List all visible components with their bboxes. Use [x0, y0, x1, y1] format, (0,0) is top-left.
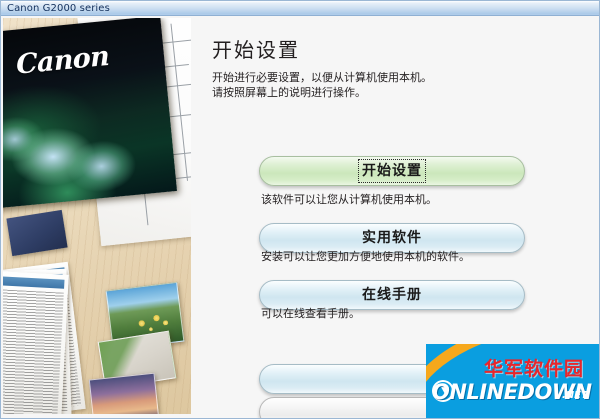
useful-software-button-label: 实用软件	[362, 230, 422, 246]
printed-document-image	[3, 271, 69, 414]
useful-software-note: 安装可以让您更加方便地使用本机的软件。	[261, 250, 470, 264]
watermark-chinese-text: 华军软件园	[484, 358, 584, 380]
start-setup-button[interactable]: 开始设置	[259, 156, 525, 186]
page-description-line-1: 开始进行必要设置，以便从计算机使用本机。	[212, 70, 552, 85]
useful-software-button[interactable]: 实用软件	[259, 223, 525, 253]
page-description: 开始进行必要设置，以便从计算机使用本机。 请按照屏幕上的说明进行操作。	[212, 70, 552, 100]
canon-setup-window: Canon G2000 series Canon	[0, 0, 600, 419]
start-setup-note: 该软件可以让您从计算机使用本机。	[261, 193, 437, 207]
canon-flower-photo: Canon	[3, 18, 177, 208]
start-setup-button-label: 开始设置	[362, 163, 422, 179]
title-bar: Canon G2000 series	[1, 1, 600, 16]
document-text-lines	[3, 289, 64, 414]
window-title: Canon G2000 series	[7, 2, 110, 15]
site-watermark: 华军软件园 ONLINEDOWN .NET	[426, 344, 600, 419]
online-manual-button[interactable]: 在线手册	[259, 280, 525, 310]
watermark-tld-text: .NET	[562, 390, 588, 402]
page-description-line-2: 请按照屏幕上的说明进行操作。	[212, 85, 552, 100]
canon-logo-wordmark: Canon	[16, 43, 110, 79]
product-illustration-panel: Canon	[3, 18, 191, 414]
sunset-photo-print	[89, 373, 159, 414]
online-manual-note: 可以在线查看手册。	[261, 307, 360, 321]
online-manual-button-label: 在线手册	[362, 287, 422, 303]
document-header-band	[3, 276, 65, 288]
page-title: 开始设置	[212, 38, 300, 62]
